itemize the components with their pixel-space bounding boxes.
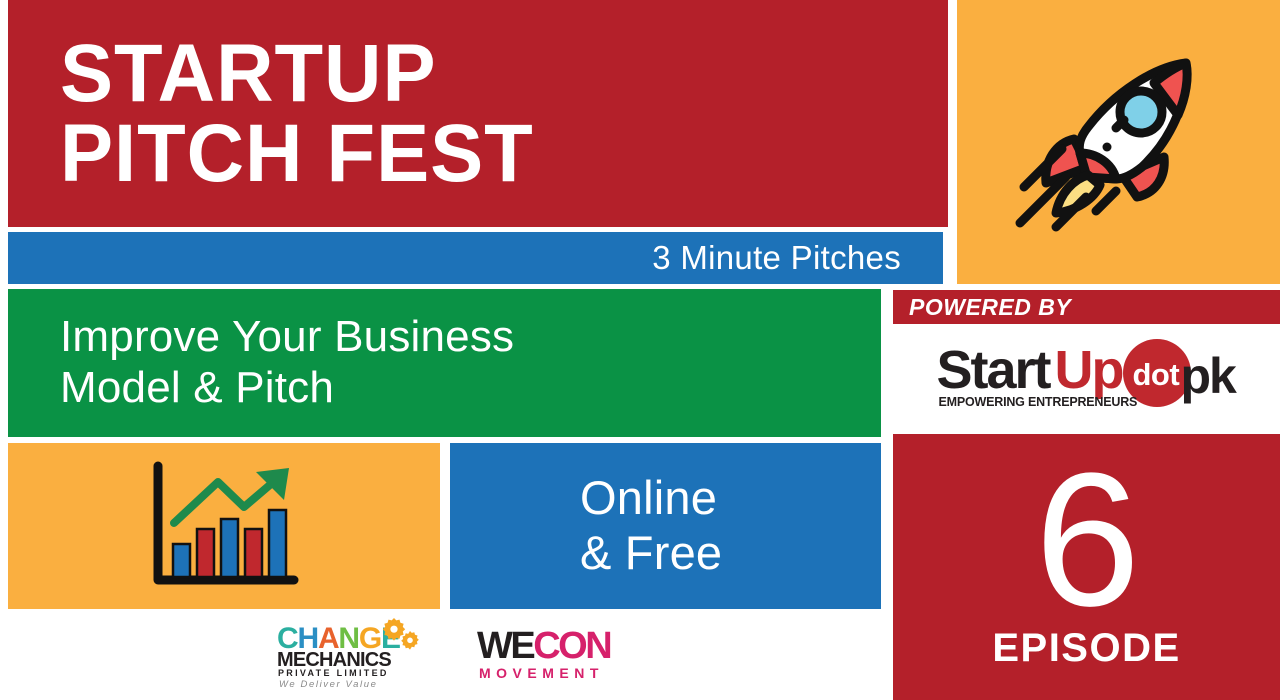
change-mechanics-logo: CHANGE MECHANICS PRIVATE LIMITED We Deli…: [271, 618, 421, 694]
title-block: STARTUP PITCH FEST: [8, 0, 948, 227]
wecon-wordmark: WECON: [477, 625, 610, 668]
title-line-2: PITCH FEST: [60, 114, 921, 194]
growth-chart-icon: [144, 460, 304, 592]
rocket-block: [957, 0, 1280, 284]
sponsor-tld: pk: [1181, 347, 1235, 405]
change-mechanics-line3: PRIVATE LIMITED: [278, 668, 389, 678]
sponsor-name-part1: Start: [937, 339, 1050, 401]
improve-line-1: Improve Your Business: [60, 312, 881, 363]
powered-by-banner: POWERED BY: [893, 290, 1280, 324]
sponsor-tagline: EMPOWERING ENTREPRENEURS: [939, 395, 1138, 409]
sponsor-dot-text: dot: [1133, 357, 1180, 393]
wecon-part1: WE: [477, 625, 533, 667]
online-line-2: & Free: [580, 526, 722, 581]
online-line-1: Online: [580, 471, 717, 526]
wecon-subtitle: MOVEMENT: [479, 665, 604, 681]
sponsor-logo-block: Start Up dot pk EMPOWERING ENTREPRENEURS: [893, 324, 1280, 427]
wecon-movement-logo: WECON MOVEMENT: [473, 625, 618, 687]
powered-by-text: POWERED BY: [909, 294, 1071, 321]
wecon-part2: CON: [533, 625, 610, 667]
improve-line-2: Model & Pitch: [60, 363, 881, 414]
poster-canvas: STARTUP PITCH FEST 3 Minute Pitches Impr…: [0, 0, 1280, 700]
title-line-1: STARTUP: [60, 34, 921, 114]
pitches-banner: 3 Minute Pitches: [8, 232, 943, 284]
episode-number: 6: [1035, 457, 1139, 624]
chart-block: [8, 443, 440, 609]
improve-banner: Improve Your Business Model & Pitch: [8, 289, 881, 437]
partner-logos-row: CHANGE MECHANICS PRIVATE LIMITED We Deli…: [8, 612, 881, 700]
change-mechanics-tagline: We Deliver Value: [279, 679, 377, 690]
rocket-icon: [1004, 27, 1234, 257]
gears-icon: [381, 618, 421, 652]
pitches-text: 3 Minute Pitches: [652, 239, 901, 277]
sponsor-name-part2: Up: [1055, 339, 1123, 401]
episode-block: 6 EPISODE: [893, 434, 1280, 700]
episode-label: EPISODE: [992, 626, 1180, 671]
startup-dot-pk-logo: Start Up dot pk EMPOWERING ENTREPRENEURS: [937, 335, 1237, 417]
online-block: Online & Free: [450, 443, 881, 609]
